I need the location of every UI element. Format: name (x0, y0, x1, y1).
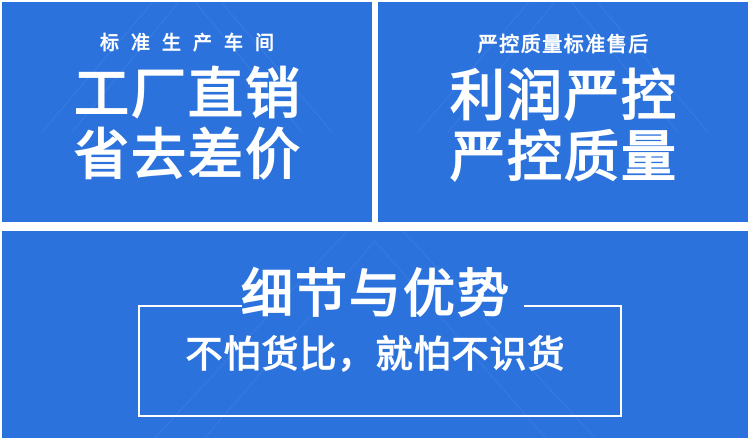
panel-right-headline-2: 严控质量 (448, 128, 678, 187)
top-panel-row: 标准生产车间 工厂直销 省去差价 严控质量标准售后 利润严控 严控质量 (2, 2, 748, 222)
panel-left-headline-2: 省去差价 (72, 126, 302, 185)
bottom-panel-subtitle: 不怕货比，就怕不识货 (2, 336, 748, 373)
panel-left-eyebrow: 标准生产车间 (88, 28, 286, 55)
promo-banner: 标准生产车间 工厂直销 省去差价 严控质量标准售后 利润严控 严控质量 (0, 0, 750, 440)
panel-quality-control: 严控质量标准售后 利润严控 严控质量 (378, 2, 748, 222)
bottom-panel-title: 细节与优势 (2, 269, 748, 321)
panel-left-headline-1: 工厂直销 (72, 65, 302, 124)
panel-details-advantages: 细节与优势 不怕货比，就怕不识货 (2, 231, 748, 438)
panel-factory-direct: 标准生产车间 工厂直销 省去差价 (2, 2, 372, 222)
panel-right-eyebrow: 严控质量标准售后 (476, 28, 650, 57)
panel-right-headline-1: 利润严控 (448, 67, 678, 126)
